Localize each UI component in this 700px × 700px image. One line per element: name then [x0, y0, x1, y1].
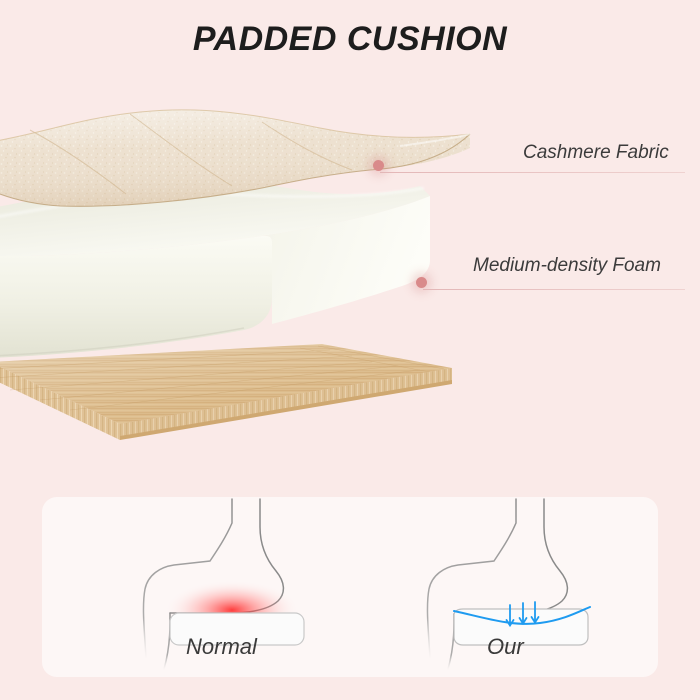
page-title: PADDED CUSHION	[0, 20, 700, 59]
callout-leader-line-foam	[423, 289, 685, 290]
callout-dot-icon-fabric	[373, 160, 384, 171]
callout-label-fabric: Cashmere Fabric	[523, 142, 669, 164]
callout-leader-line-fabric	[380, 172, 685, 173]
callout-dot-icon-foam	[416, 277, 427, 288]
comparison-panel	[42, 497, 658, 677]
comparison-caption-our: Our	[487, 634, 524, 660]
callout-label-foam: Medium-density Foam	[473, 255, 661, 277]
wooden-board-shape	[0, 344, 452, 440]
infographic-poster: PADDED CUSHION	[0, 0, 700, 700]
comparison-svg	[42, 497, 658, 677]
comparison-caption-normal: Normal	[186, 634, 257, 660]
